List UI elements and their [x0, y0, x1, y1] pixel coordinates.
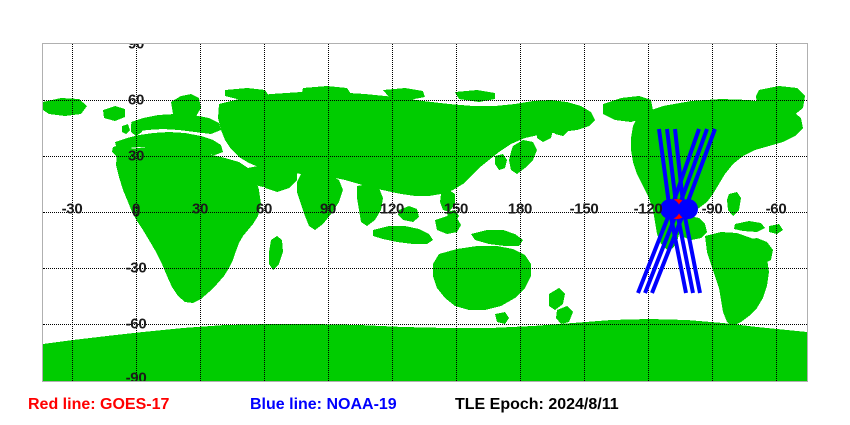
legend-tle-epoch: TLE Epoch: 2024/8/11 [455, 397, 619, 413]
lat-tick-label: 30 [128, 149, 144, 164]
lat-tick-label: 90 [128, 43, 144, 52]
gridline-latitude [43, 268, 807, 269]
lon-tick-label: 30 [192, 202, 208, 217]
lon-tick-label: 120 [380, 202, 404, 217]
legend-goes17: Red line: GOES-17 [28, 397, 169, 413]
lon-tick-label: 180 [508, 202, 532, 217]
gridline-latitude [43, 212, 807, 213]
lon-tick-label: -90 [702, 202, 723, 217]
gridline-latitude [43, 324, 807, 325]
lon-tick-label: 60 [256, 202, 272, 217]
lon-tick-label: -30 [62, 202, 83, 217]
lat-tick-label: 0 [132, 205, 140, 220]
world-map-plot-area[interactable]: -30 0 30 60 90 120 150 180 -150 -120 -90… [42, 43, 808, 382]
lon-tick-label: 150 [444, 202, 468, 217]
gridline-latitude [43, 156, 807, 157]
figure-legend: Red line: GOES-17 Blue line: NOAA-19 TLE… [0, 392, 850, 420]
lon-tick-label: 90 [320, 202, 336, 217]
lon-tick-label: -120 [634, 202, 663, 217]
gridline-latitude [43, 100, 807, 101]
lat-tick-label: -60 [126, 317, 147, 332]
legend-noaa19: Blue line: NOAA-19 [250, 397, 397, 413]
lat-tick-label: 60 [128, 93, 144, 108]
lat-tick-label: -90 [126, 371, 147, 383]
lon-tick-label: -60 [766, 202, 787, 217]
lon-tick-label: -150 [570, 202, 599, 217]
satellite-ground-track-figure: -30 0 30 60 90 120 150 180 -150 -120 -90… [0, 0, 850, 425]
lat-tick-label: -30 [126, 261, 147, 276]
